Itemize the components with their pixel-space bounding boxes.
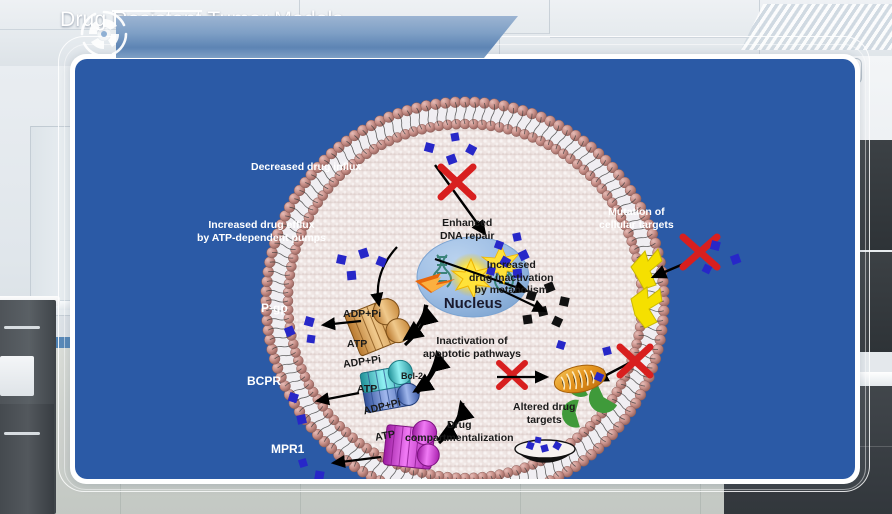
label-line-1: Increased drug efflux — [208, 219, 314, 231]
label-line-3: by metabolism — [475, 284, 549, 296]
label-line-1: Mutation of — [608, 206, 665, 218]
left-cabinet-lower — [0, 404, 54, 514]
label-line-2: targets — [527, 414, 562, 426]
label-decreased-drug-influx: Decreased drug influx — [251, 161, 361, 174]
label-line-1: Drug — [447, 419, 472, 431]
label-line-2: DNA repair — [440, 230, 494, 242]
label-line-2: cellular targets — [599, 219, 674, 231]
label-line-1: Increased — [487, 259, 536, 271]
slide-title-bar — [78, 16, 518, 58]
label-bcl-2: Bcl-2 — [401, 371, 423, 382]
label-increased-drug-inactivation: Increased drug inactivation by metabolis… — [469, 259, 554, 297]
title-band — [116, 16, 518, 58]
label-atp-2: ATP — [357, 383, 377, 396]
label-drug-compartmentalization: Drug compartmentalization — [405, 419, 514, 444]
circular-swirl-logo-icon — [78, 8, 130, 60]
label-mutation-cellular-targets: Mutation of cellular targets — [599, 206, 674, 231]
label-line-1: Inactivation of — [436, 335, 507, 347]
label-line-1: Enhanced — [442, 217, 492, 229]
label-pgp: P-gp — [261, 302, 288, 315]
label-altered-drug-targets: Altered drug targets — [513, 401, 575, 426]
label-line-2: compartmentalization — [405, 432, 514, 444]
label-enhanced-dna-repair: Enhanced DNA repair — [440, 217, 494, 242]
label-line-1: Altered drug — [513, 401, 575, 413]
label-atp-1: ATP — [347, 338, 367, 351]
label-increased-drug-efflux: Increased drug efflux by ATP-dependent p… — [197, 219, 326, 244]
label-line-2: drug inactivation — [469, 272, 554, 284]
label-line-2: apoptotic pathways — [423, 348, 521, 360]
slide-canvas: Nucleus — [75, 59, 855, 479]
left-sink — [0, 356, 34, 396]
svg-text:Nucleus: Nucleus — [444, 295, 502, 312]
label-line-2: by ATP-dependent pumps — [197, 232, 326, 244]
label-mpr1: MPR1 — [271, 443, 304, 456]
label-inactivation-apoptotic-pathways: Inactivation of apoptotic pathways — [423, 335, 521, 360]
label-adp-pi-1: ADP+Pi — [343, 308, 381, 321]
wall-panel — [30, 126, 72, 316]
slide-panel: Nucleus — [70, 54, 860, 484]
label-bcpr: BCPR — [247, 375, 281, 388]
drug-resistance-diagram: Nucleus — [75, 59, 855, 479]
ceiling-light — [741, 4, 892, 50]
